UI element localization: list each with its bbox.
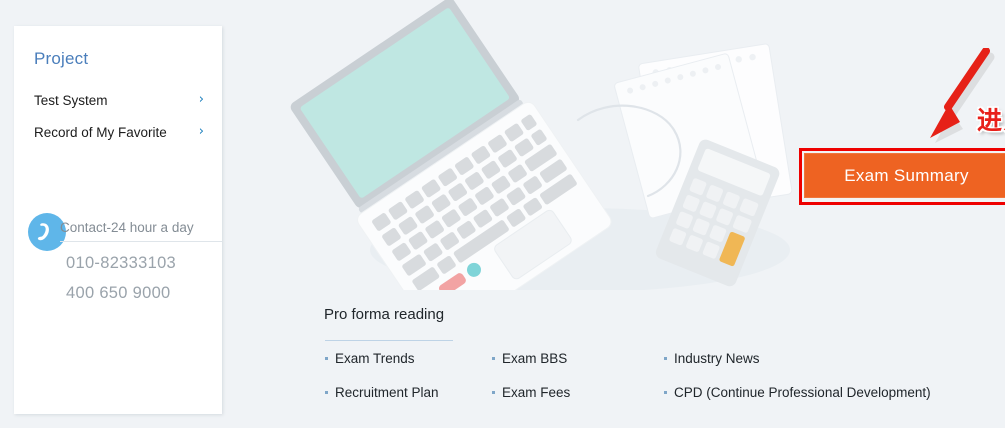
link-cpd[interactable]: CPD (Continue Professional Development) xyxy=(664,385,931,400)
sidebar-item-label: Test System xyxy=(34,93,108,108)
bullet-icon xyxy=(492,357,495,360)
contact-label: Contact-24 hour a day xyxy=(60,220,194,235)
link-label: Recruitment Plan xyxy=(335,385,439,400)
bullet-icon xyxy=(664,391,667,394)
sidebar-card: Project Test System › Record of My Favor… xyxy=(14,26,222,414)
link-label: Exam Fees xyxy=(502,385,570,400)
link-label: CPD (Continue Professional Development) xyxy=(674,385,931,400)
link-label: Exam BBS xyxy=(502,351,567,366)
bullet-icon xyxy=(325,391,328,394)
divider xyxy=(60,241,222,242)
chevron-right-icon: › xyxy=(199,124,204,139)
link-exam-bbs[interactable]: Exam BBS xyxy=(492,351,567,366)
sidebar-item-test-system[interactable]: Test System › xyxy=(34,93,204,115)
link-industry-news[interactable]: Industry News xyxy=(664,351,760,366)
divider xyxy=(325,340,453,341)
sidebar-item-label: Record of My Favorite xyxy=(34,125,167,140)
bullet-icon xyxy=(492,391,495,394)
link-recruitment-plan[interactable]: Recruitment Plan xyxy=(325,385,439,400)
link-exam-fees[interactable]: Exam Fees xyxy=(492,385,570,400)
section-title: Pro forma reading xyxy=(324,306,444,323)
page-title: Project xyxy=(34,49,88,69)
bullet-icon xyxy=(325,357,328,360)
hero-banner: 进入机考模拟系统 Exam Summary xyxy=(250,0,1005,290)
phone-number: 010-82333103 xyxy=(66,254,176,273)
exam-summary-button[interactable]: Exam Summary xyxy=(804,153,1005,198)
bullet-icon xyxy=(664,357,667,360)
sidebar-item-record-of-my-favorite[interactable]: Record of My Favorite › xyxy=(34,125,204,147)
laptop-notepad-calculator-illustration xyxy=(250,0,1005,290)
cta-callout-text: 进入机考模拟系统 xyxy=(977,101,1005,137)
link-label: Exam Trends xyxy=(335,351,415,366)
link-label: Industry News xyxy=(674,351,760,366)
link-exam-trends[interactable]: Exam Trends xyxy=(325,351,415,366)
phone-number: 400 650 9000 xyxy=(66,284,171,303)
chevron-right-icon: › xyxy=(199,92,204,107)
